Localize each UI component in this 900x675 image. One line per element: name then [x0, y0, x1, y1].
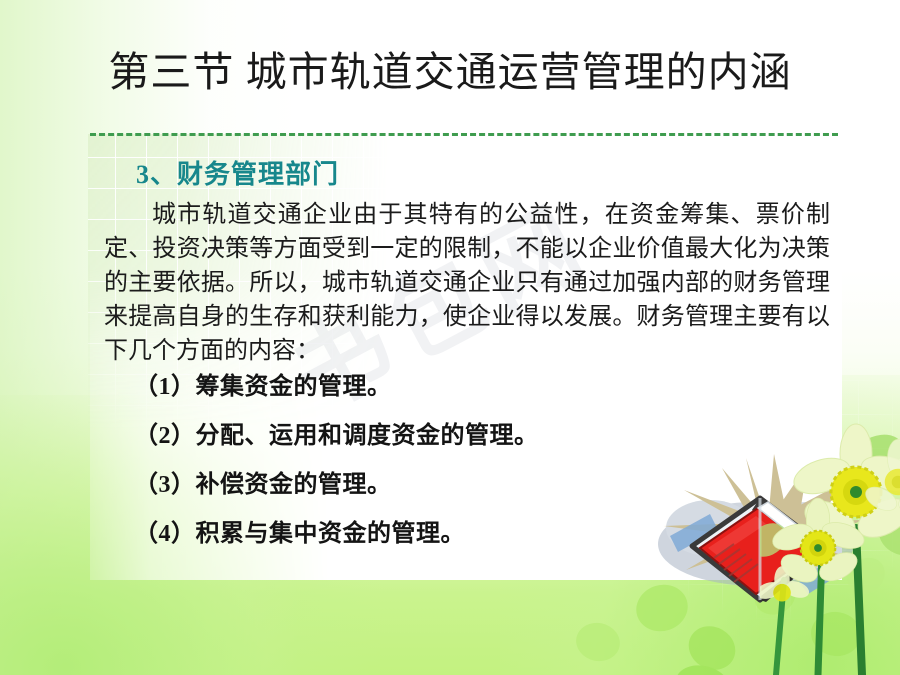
- list-item: （2）分配、运用和调度资金的管理。: [134, 421, 734, 451]
- slide-canvas: 书包网 第三节 城市轨道交通运营管理的内涵 3、财务管理部门 城市轨道交通企业由…: [0, 0, 900, 675]
- page-title: 第三节 城市轨道交通运营管理的内涵: [0, 48, 900, 96]
- body-container: 3、财务管理部门 城市轨道交通企业由于其特有的公益性，在资金筹集、票价制定、投资…: [90, 136, 842, 580]
- section-subheading: 3、财务管理部门: [136, 154, 339, 191]
- list-item: （3）补偿资金的管理。: [134, 470, 734, 500]
- body-paragraph: 城市轨道交通企业由于其特有的公益性，在资金筹集、票价制定、投资决策等方面受到一定…: [104, 198, 830, 368]
- list-item: （4）积累与集中资金的管理。: [134, 519, 734, 549]
- numbered-item-list: （1）筹集资金的管理。 （2）分配、运用和调度资金的管理。 （3）补偿资金的管理…: [134, 372, 734, 568]
- list-item: （1）筹集资金的管理。: [134, 372, 734, 402]
